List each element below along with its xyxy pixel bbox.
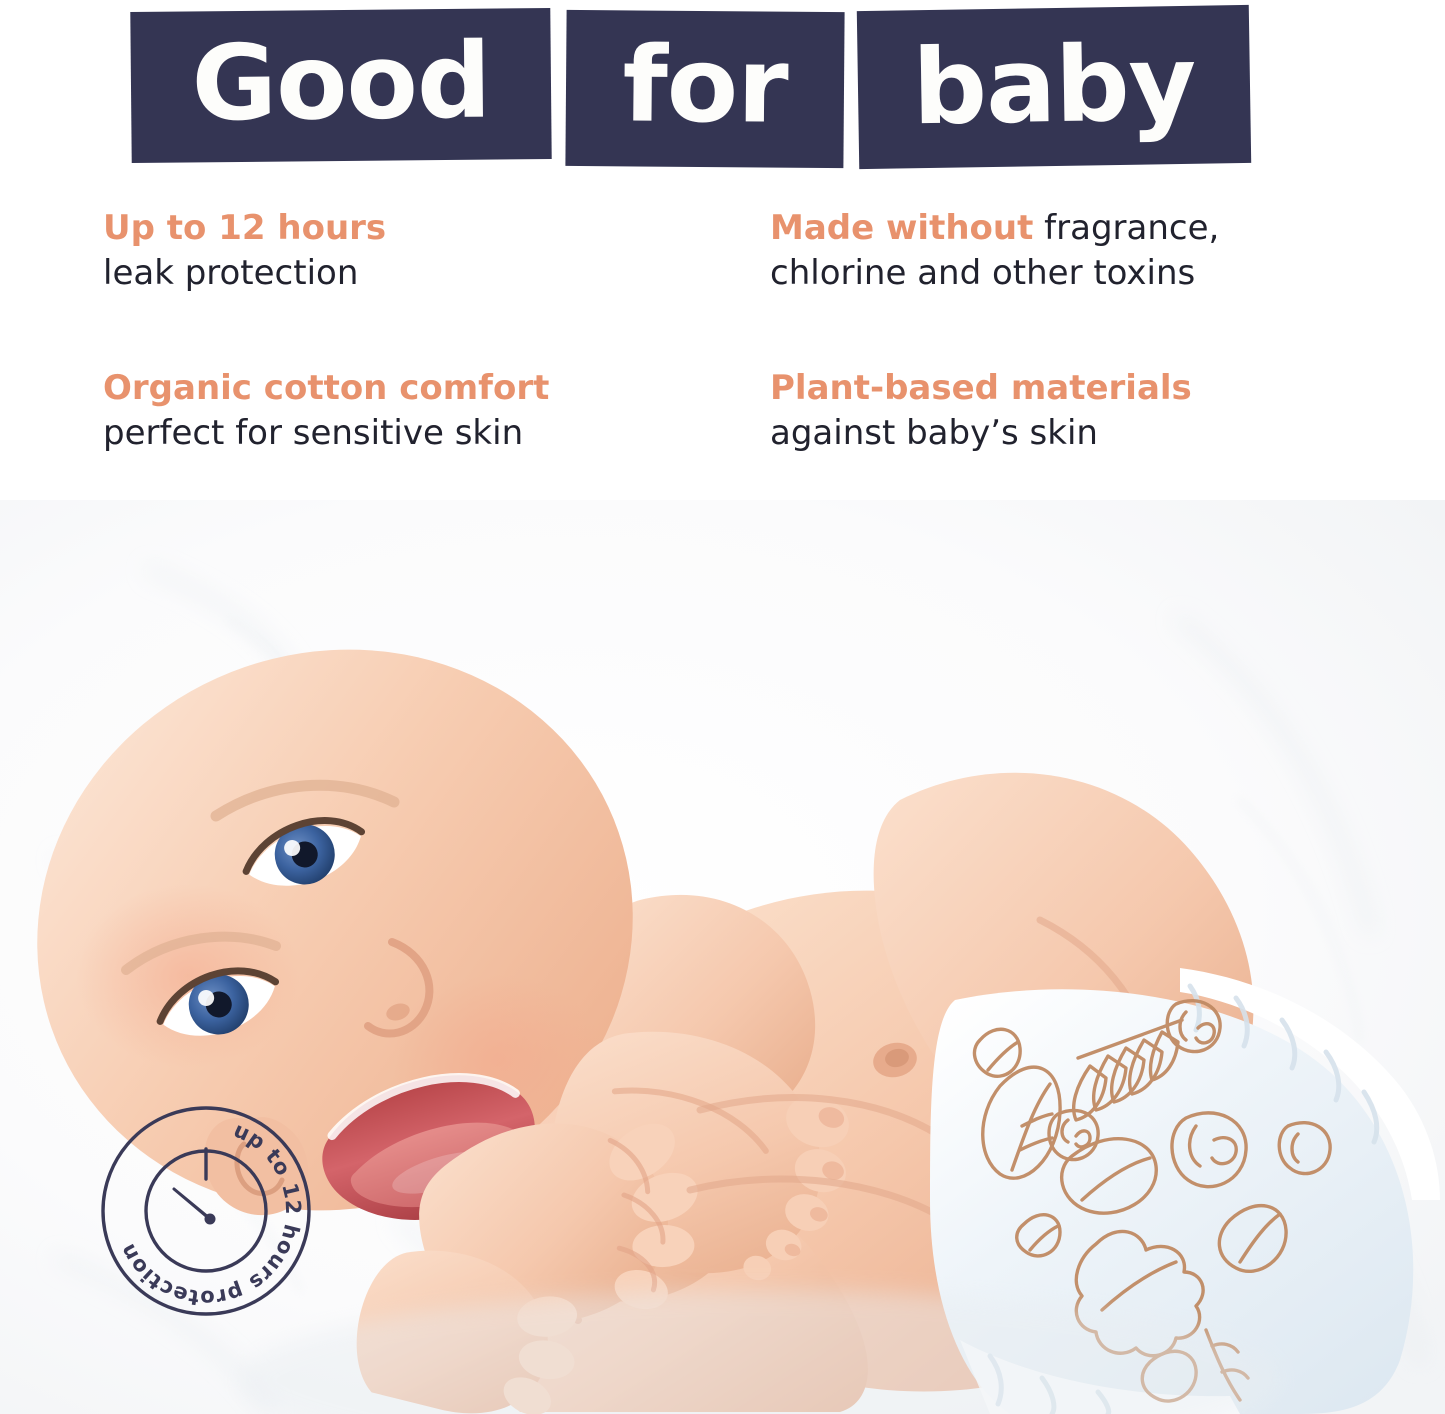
headline-banner-for: for	[565, 10, 844, 168]
headline-banner-group: Good for baby	[0, 0, 1445, 185]
feature-rest: fragrance,	[1033, 208, 1219, 248]
protection-seal-badge: up to 12 hours protection	[95, 1100, 317, 1322]
feature-organic-cotton-comfort: Organic cotton comfort perfect for sensi…	[103, 366, 743, 456]
feature-detail: leak protection	[103, 253, 358, 293]
feature-detail: perfect for sensitive skin	[103, 413, 523, 453]
feature-detail: against baby’s skin	[770, 413, 1098, 453]
feature-highlight: Made without	[770, 208, 1033, 248]
feature-plant-based-materials: Plant-based materials against baby’s ski…	[770, 366, 1390, 456]
feature-made-without-toxins: Made without fragrance, chlorine and oth…	[770, 206, 1390, 296]
feature-leak-protection: Up to 12 hours leak protection	[103, 206, 743, 296]
headline-banner-good: Good	[130, 8, 551, 163]
headline-word-baby: baby	[912, 31, 1196, 139]
feature-highlight: Up to 12 hours	[103, 208, 386, 248]
feature-detail: chlorine and other toxins	[770, 253, 1195, 293]
clock-timer-icon	[138, 1143, 274, 1279]
feature-highlight: Organic cotton comfort	[103, 368, 549, 408]
headline-word-good: Good	[191, 28, 491, 135]
seal-outer-ring	[103, 1108, 309, 1314]
headline-banner-baby: baby	[857, 5, 1251, 169]
headline-word-for: for	[622, 32, 788, 137]
feature-highlight: Plant-based materials	[770, 368, 1192, 408]
